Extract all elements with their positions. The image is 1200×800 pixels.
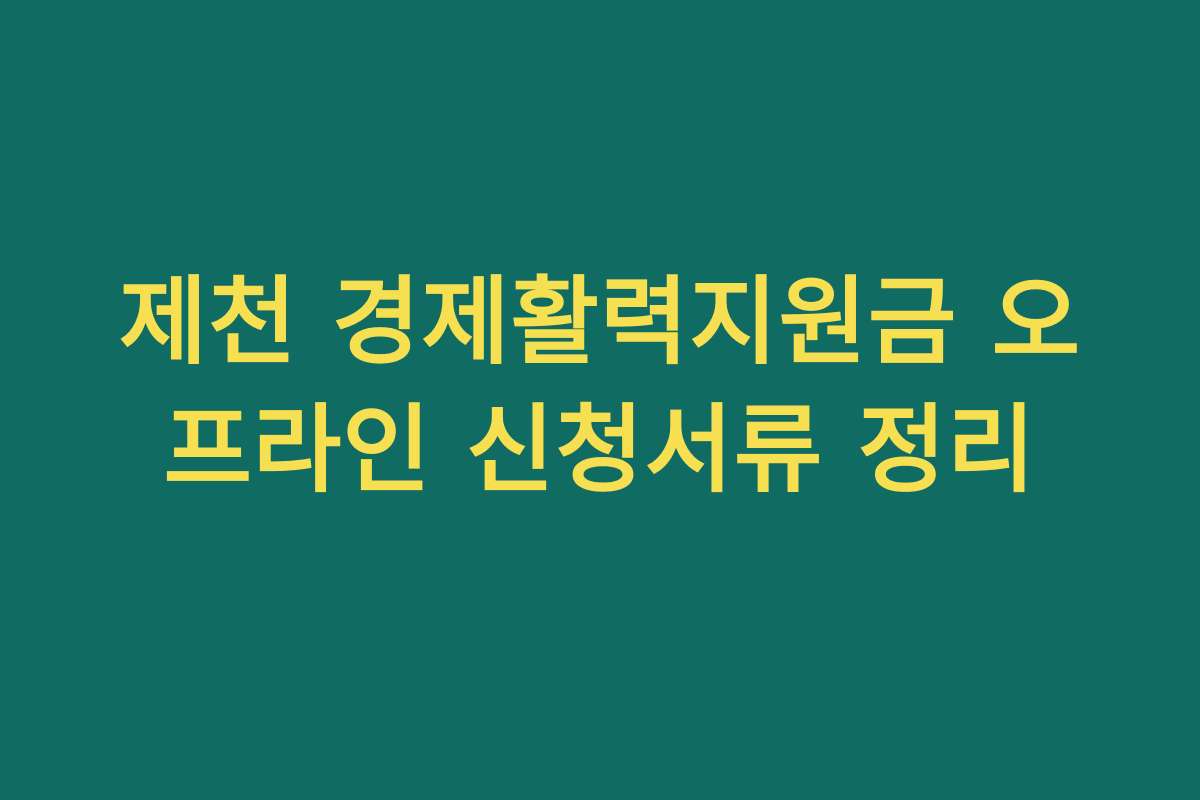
title-line-2: 프라인 신청서류 정리 — [95, 386, 1105, 514]
page-title: 제천 경제활력지원금 오 프라인 신청서류 정리 — [95, 258, 1105, 514]
title-line-1: 제천 경제활력지원금 오 — [95, 258, 1105, 386]
title-banner: 제천 경제활력지원금 오 프라인 신청서류 정리 — [0, 0, 1200, 800]
